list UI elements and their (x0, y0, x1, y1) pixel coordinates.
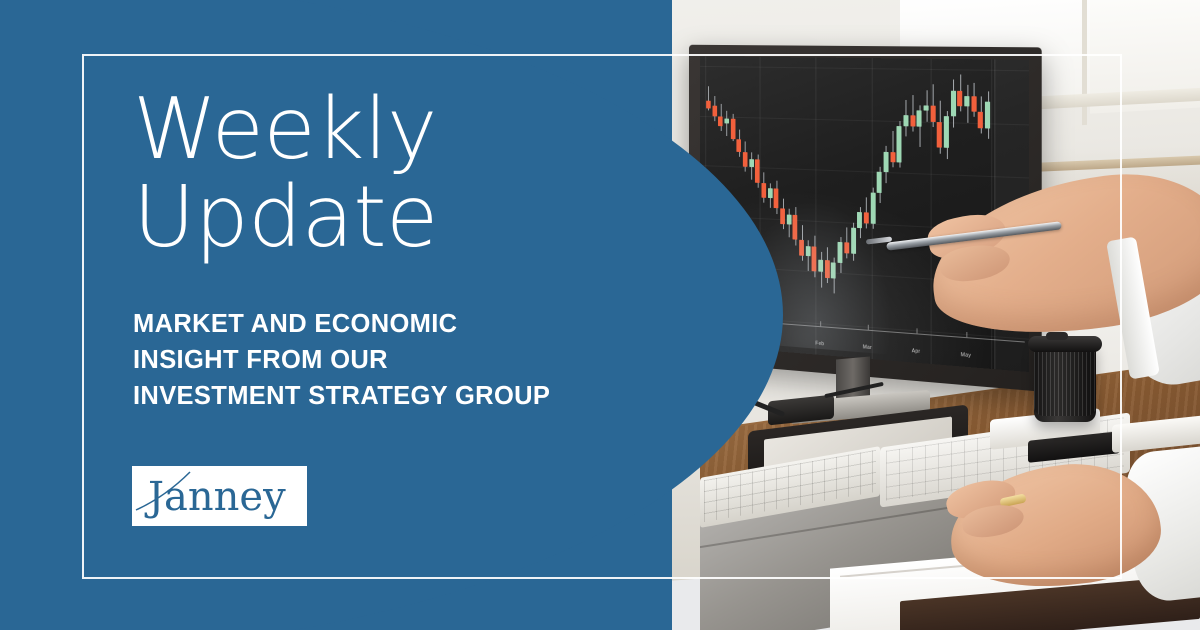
chart-candle-body (743, 152, 748, 167)
chart-candle-body (884, 151, 889, 172)
weekly-update-banner: Dec2016FebMarAprMay (0, 0, 1200, 630)
janney-logo-mark: Janney (132, 466, 307, 526)
page-title-line-2: Update (133, 168, 438, 267)
hero-text-block: WeeklyUpdate MARKET AND ECONOMICINSIGHT … (133, 86, 653, 414)
chart-candle-body (937, 122, 942, 148)
chart-candle-body (730, 119, 735, 139)
chart-candle-body (718, 116, 723, 126)
chart-candle-body (964, 96, 969, 107)
chart-candle-body (903, 116, 908, 127)
chart-candle-body (712, 106, 717, 116)
page-subtitle-line-3: INVESTMENT STRATEGY GROUP (133, 382, 550, 410)
chart-candle-body (985, 102, 990, 129)
page-title-line-1: Weekly (133, 80, 437, 179)
coffee-cup-ribs (1034, 352, 1096, 416)
chart-gridline-h (700, 66, 1029, 71)
chart-candle-body (897, 126, 902, 163)
janney-logo[interactable]: Janney Janney (132, 466, 307, 526)
chart-candle-body (706, 101, 711, 109)
chart-candle-body (930, 106, 935, 122)
chart-candle-body (951, 90, 956, 116)
chart-candle-body (724, 119, 729, 124)
chart-candle-body (944, 117, 949, 149)
chart-candle-body (917, 111, 922, 127)
chart-candle-body (924, 106, 929, 111)
page-subtitle: MARKET AND ECONOMICINSIGHT FROM OURINVES… (133, 262, 653, 414)
chart-candle-body (971, 96, 976, 112)
coffee-cup-lid-tab (1046, 332, 1068, 340)
chart-candle-body (978, 112, 983, 128)
page-subtitle-line-2: INSIGHT FROM OUR (133, 346, 388, 374)
page-subtitle-line-1: MARKET AND ECONOMIC (133, 310, 457, 338)
chart-candle-wick (727, 111, 728, 136)
chart-candle-body (890, 152, 895, 163)
janney-logo-wordmark: Janney (144, 474, 286, 520)
page-title: WeeklyUpdate (133, 86, 653, 262)
chart-candle-body (958, 90, 963, 106)
chart-candle-body (910, 116, 915, 127)
chart-candle-body (737, 139, 742, 152)
chart-candle-body (749, 160, 754, 168)
